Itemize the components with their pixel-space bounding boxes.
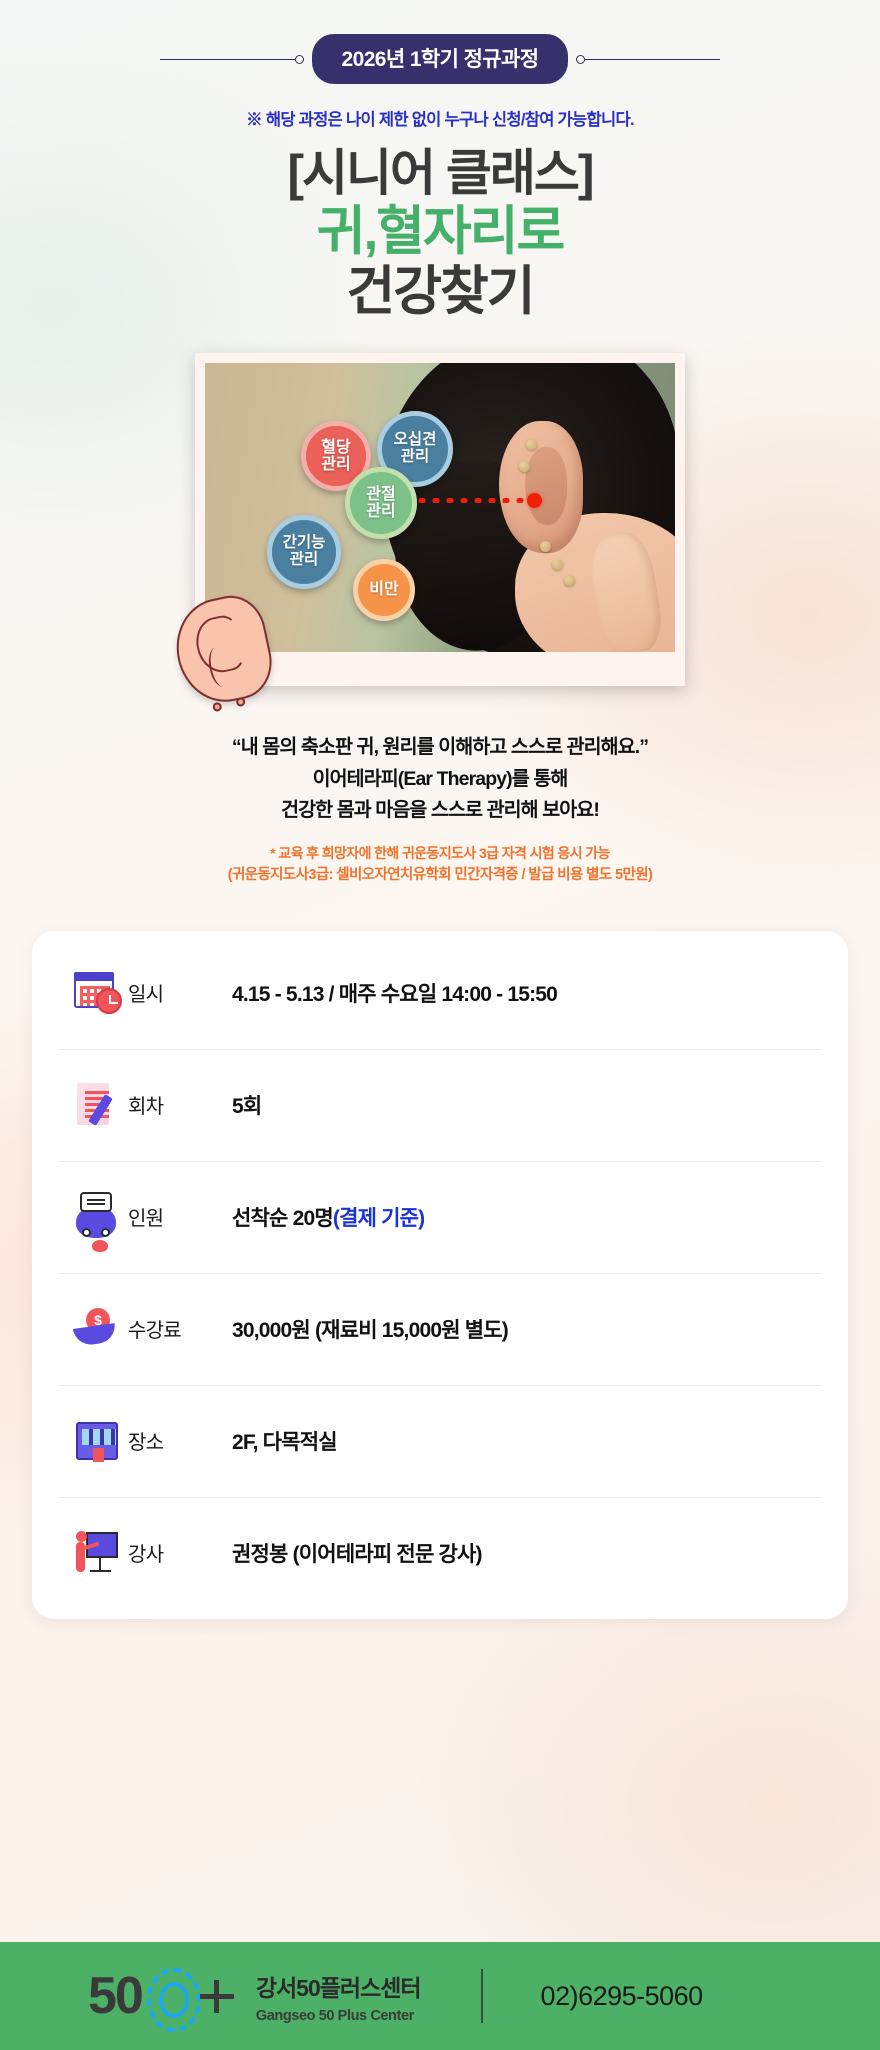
ear-seed-4: [552, 559, 563, 570]
instructor-icon: [72, 1528, 122, 1578]
badge-dot-right: [576, 55, 585, 64]
quote-section: “내 몸의 축소판 귀, 원리를 이해하고 스스로 관리해요.” 이어테라피(E…: [0, 732, 880, 887]
detail-label: 강사: [128, 1538, 232, 1567]
calendar-clock-icon: [72, 968, 122, 1018]
age-notice: ※ 해당 과정은 나이 제한 없이 누구나 신청/참여 가능합니다.: [0, 106, 880, 130]
money-hand-icon: $: [72, 1304, 122, 1354]
detail-value-accent: (결제 기준): [333, 1207, 425, 1230]
center-name-kr: 강서50플러스센터: [256, 1969, 421, 2003]
detail-row-date: 일시 4.15 - 5.13 / 매주 수요일 14:00 - 15:50: [32, 937, 848, 1049]
speech-bubble: [80, 1192, 112, 1212]
building-door: [93, 1448, 104, 1462]
detail-row-instructor: 강사 권정봉 (이어테라피 전문 강사): [32, 1497, 848, 1609]
people-eye-right: [101, 1228, 110, 1237]
bubble-joint: 관절 관리: [345, 467, 417, 539]
logo-plus-icon: [200, 1979, 234, 2013]
footer-bar: 50 강서50플러스센터 Gangseo 50 Plus Center 02)6…: [0, 1942, 880, 2050]
detail-value: 5회: [232, 1090, 261, 1120]
bubble-label-bottom: 관리: [366, 503, 395, 520]
mascot-foot-right: [235, 697, 246, 708]
ear-seed-3: [540, 541, 551, 552]
detail-row-fee: $ 수강료 30,000원 (재료비 15,000원 별도): [32, 1273, 848, 1385]
detail-value-main: 선착순 20명: [232, 1207, 333, 1230]
acupoint-marker: [527, 493, 542, 508]
badge-line-right: [585, 59, 720, 60]
clock-face: [96, 988, 122, 1014]
detail-label: 인원: [128, 1202, 232, 1231]
people-mouth: [92, 1240, 108, 1252]
semester-badge: 2026년 1학기 정규과정: [312, 34, 569, 84]
detail-value: 2F, 다목적실: [232, 1426, 337, 1456]
page-title: [시니어 클래스] 귀,혈자리로 건강찾기: [0, 148, 880, 318]
contact-phone: 02)6295-5060: [541, 1981, 703, 2012]
bubble-obesity: 비만: [353, 559, 415, 621]
ear-seed-1: [526, 439, 537, 450]
logo-ring-icon: [144, 1968, 196, 2024]
center-name-block: 강서50플러스센터 Gangseo 50 Plus Center: [256, 1969, 421, 2024]
badge-line-left: [160, 59, 295, 60]
badge-dot-left: [295, 55, 304, 64]
mascot-foot-left: [212, 702, 223, 713]
hand-shape: [73, 1323, 117, 1347]
document-pen-icon: [72, 1080, 122, 1130]
bubble-label-top: 혈당: [321, 439, 350, 456]
detail-label: 장소: [128, 1426, 232, 1455]
detail-value: 30,000원 (재료비 15,000원 별도): [232, 1314, 508, 1344]
detail-label: 수강료: [128, 1314, 232, 1343]
bubble-label-bottom: 관리: [401, 449, 430, 466]
footer-divider: [481, 1969, 483, 2023]
building-body: [76, 1422, 118, 1460]
people-eye-left: [82, 1228, 91, 1237]
header-badge-row: 2026년 1학기 정규과정: [0, 0, 880, 84]
whiteboard-foot: [90, 1570, 111, 1572]
center-logo: 50: [88, 1968, 234, 2024]
title-line-2: 귀,혈자리로: [0, 205, 880, 258]
detail-value: 4.15 - 5.13 / 매주 수요일 14:00 - 15:50: [232, 978, 557, 1008]
quote-footnote: * 교육 후 희망자에 한해 귀운동지도사 3급 자격 시험 응시 가능 (귀운…: [70, 843, 810, 887]
ear-seed-5: [564, 575, 575, 586]
pointer-dotted-line: [401, 498, 533, 503]
detail-row-location: 장소 2F, 다목적실: [32, 1385, 848, 1497]
bubble-label-bottom: 관리: [321, 456, 350, 473]
quote-line-3: 건강한 몸과 마음을 스스로 관리해 보아요!: [70, 795, 810, 827]
teacher-figure: [76, 1542, 85, 1572]
ear-therapy-photo: 혈당 관리 오십견 관리 관절 관리 간기능 관리 비만: [205, 363, 675, 652]
detail-value: 선착순 20명(결제 기준): [232, 1202, 424, 1232]
course-details-card: 일시 4.15 - 5.13 / 매주 수요일 14:00 - 15:50 회차…: [32, 931, 848, 1619]
footnote-line-2: (귀운동지도사3급: 셀비오자연치유학회 민간자격증 / 발급 비용 별도 5만…: [70, 864, 810, 886]
bubble-label-bottom: 관리: [290, 552, 319, 569]
quote-line-1: “내 몸의 축소판 귀, 원리를 이해하고 스스로 관리해요.”: [70, 732, 810, 764]
bubble-label-top: 비만: [369, 581, 398, 598]
detail-label: 일시: [128, 978, 232, 1007]
detail-row-sessions: 회차 5회: [32, 1049, 848, 1161]
bubble-label-top: 오십견: [394, 432, 437, 449]
bubble-label-top: 관절: [366, 486, 395, 503]
logo-number: 50: [88, 1970, 142, 2022]
bubble-liver: 간기능 관리: [267, 515, 341, 589]
ear-seed-2: [519, 461, 530, 472]
title-line-1: [시니어 클래스]: [0, 148, 880, 198]
center-name-en: Gangseo 50 Plus Center: [256, 2008, 421, 2024]
detail-value: 권정봉 (이어테라피 전문 강사): [232, 1538, 482, 1568]
people-icon: [72, 1192, 122, 1242]
footnote-line-1: * 교육 후 희망자에 한해 귀운동지도사 3급 자격 시험 응시 가능: [70, 843, 810, 865]
photo-section: 혈당 관리 오십견 관리 관절 관리 간기능 관리 비만: [195, 353, 685, 686]
building-icon: [72, 1416, 122, 1466]
title-line-3: 건강찾기: [0, 265, 880, 318]
ear-inner-shape: [525, 447, 567, 525]
quote-line-2: 이어테라피(Ear Therapy)를 통해: [70, 764, 810, 796]
detail-label: 회차: [128, 1090, 232, 1119]
bubble-label-top: 간기능: [283, 535, 326, 552]
photo-card: 혈당 관리 오십견 관리 관절 관리 간기능 관리 비만: [195, 353, 685, 686]
building-windows: [82, 1429, 116, 1445]
detail-row-capacity: 인원 선착순 20명(결제 기준): [32, 1161, 848, 1273]
